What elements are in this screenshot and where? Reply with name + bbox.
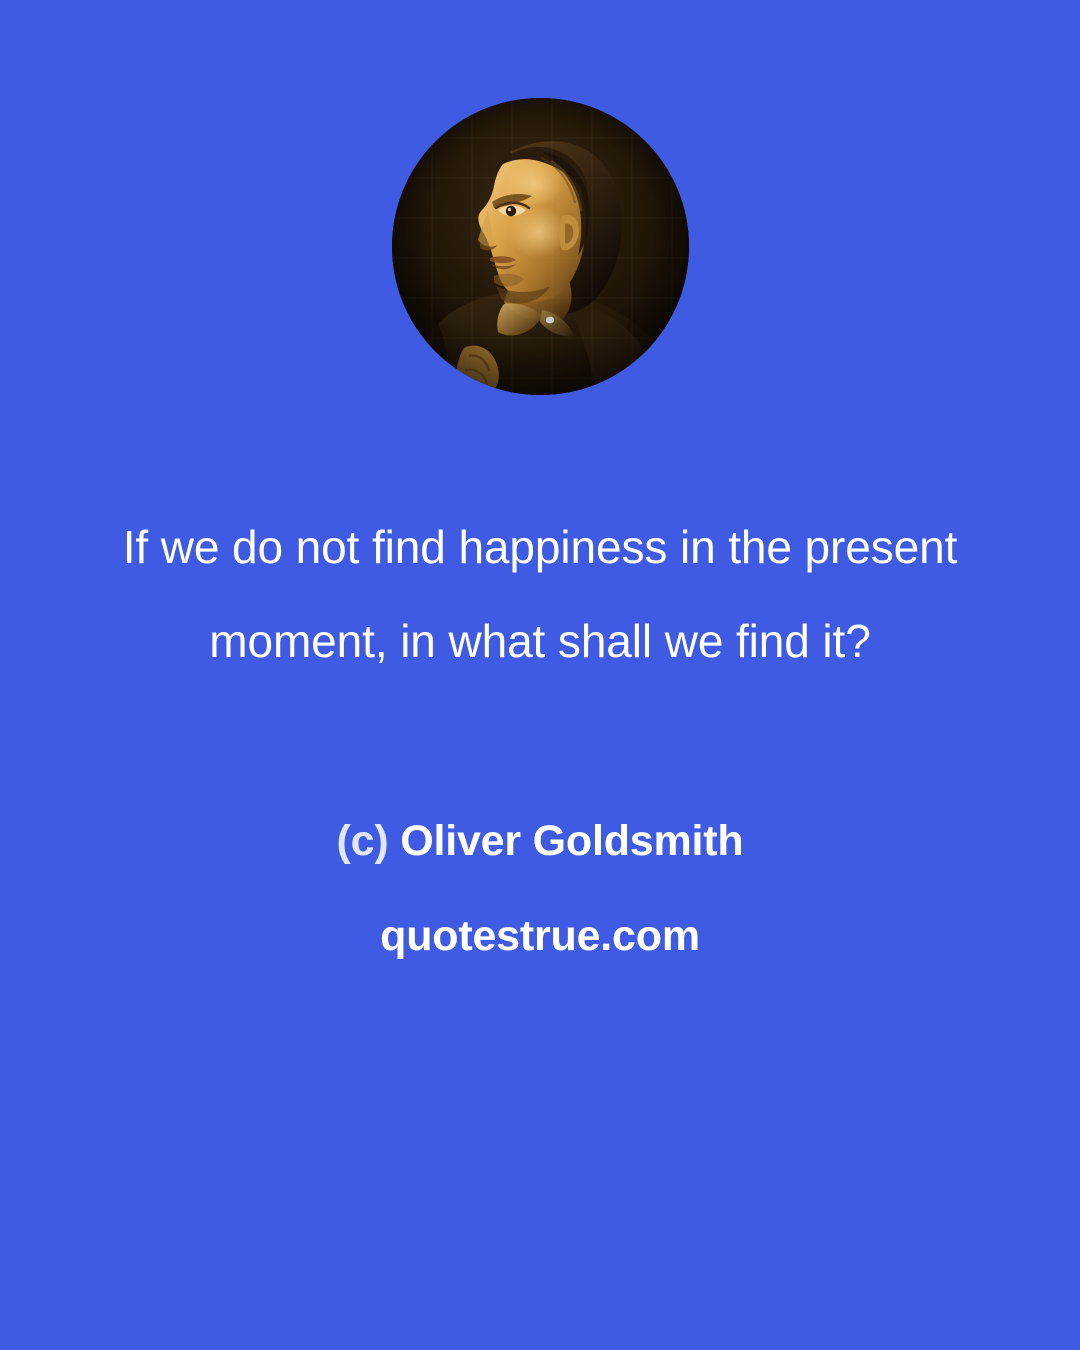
- author-portrait: [392, 98, 689, 395]
- author-name: [388, 817, 400, 865]
- site-url: quotestrue.com: [0, 911, 1080, 961]
- quote-card: If we do not find happiness in the prese…: [0, 0, 1080, 1350]
- attribution: (c) Oliver Goldsmith: [0, 816, 1080, 866]
- author-portrait-avatar: [392, 98, 689, 395]
- quote-text: If we do not find happiness in the prese…: [0, 500, 1080, 688]
- author-name-text: Oliver Goldsmith: [400, 817, 743, 865]
- copyright-mark: (c): [337, 817, 389, 865]
- quote-text-block: If we do not find happiness in the prese…: [0, 500, 1080, 688]
